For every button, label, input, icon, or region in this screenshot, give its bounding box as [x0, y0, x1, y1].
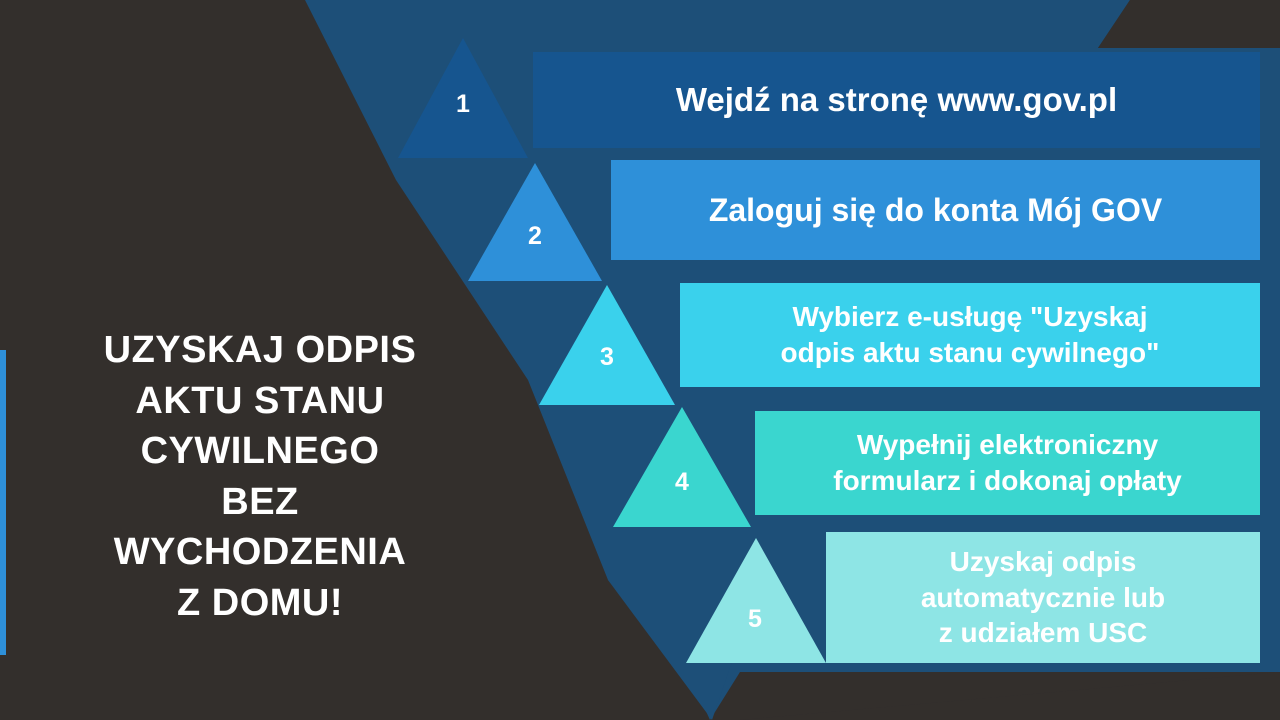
step-2-label-bar: Zaloguj się do konta Mój GOV: [611, 160, 1260, 260]
dark-wedge-bottom-right: [740, 672, 1280, 720]
step-5-triangle: [686, 538, 826, 663]
step-5-number: 5: [735, 605, 775, 634]
headline-line-2: AKTU STANU: [30, 376, 490, 427]
step-1-number: 1: [443, 90, 483, 119]
step-4-label-line-1: Wypełnij elektroniczny: [833, 427, 1181, 463]
step-1-label-line-1: Wejdź na stronę www.gov.pl: [676, 81, 1117, 119]
step-4-label-line-2: formularz i dokonaj opłaty: [833, 463, 1181, 499]
step-5-label-line-3: z udziałem USC: [921, 615, 1165, 651]
dark-wedge-top-right: [1098, 0, 1280, 48]
step-4-number: 4: [662, 468, 702, 497]
step-5-label-bar: Uzyskaj odpis automatycznie lub z udział…: [826, 532, 1260, 663]
headline-line-3: CYWILNEGO: [30, 426, 490, 477]
headline-line-6: Z DOMU!: [30, 578, 490, 629]
step-2-label-line-1: Zaloguj się do konta Mój GOV: [709, 192, 1162, 229]
step-5-label-line-1: Uzyskaj odpis: [921, 544, 1165, 580]
headline-line-1: UZYSKAJ ODPIS: [30, 325, 490, 376]
step-1-label-bar: Wejdź na stronę www.gov.pl: [533, 52, 1260, 148]
step-5-label-line-2: automatycznie lub: [921, 580, 1165, 616]
infographic-slide: UZYSKAJ ODPIS AKTU STANU CYWILNEGO BEZ W…: [0, 0, 1280, 720]
headline-line-5: WYCHODZENIA: [30, 527, 490, 578]
step-4-label-bar: Wypełnij elektroniczny formularz i dokon…: [755, 411, 1260, 515]
headline-line-4: BEZ: [30, 477, 490, 528]
step-3-label-bar: Wybierz e-usługę "Uzyskaj odpis aktu sta…: [680, 283, 1260, 387]
step-3-number: 3: [587, 343, 627, 372]
page-title: UZYSKAJ ODPIS AKTU STANU CYWILNEGO BEZ W…: [30, 325, 490, 628]
left-accent-bar: [0, 350, 6, 655]
step-2-number: 2: [515, 222, 555, 251]
step-3-label-line-1: Wybierz e-usługę "Uzyskaj: [781, 299, 1160, 335]
step-4-triangle: [613, 407, 751, 527]
step-3-label-line-2: odpis aktu stanu cywilnego": [781, 335, 1160, 371]
